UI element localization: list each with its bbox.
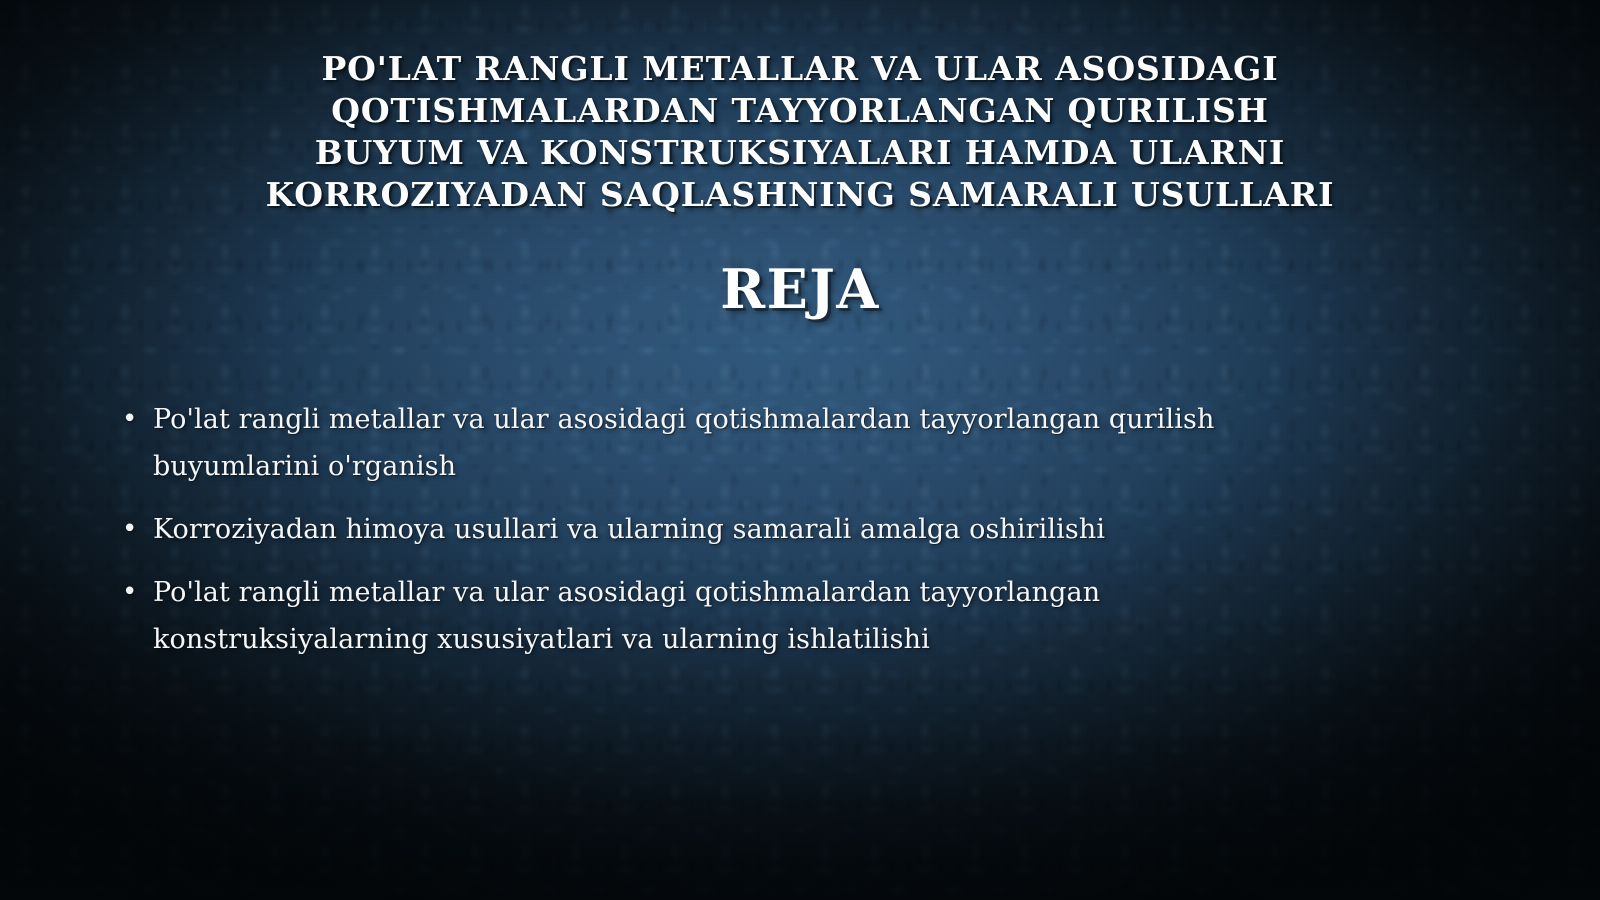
slide-title-line-2: QOTISHMALARDAN TAYYORLANGAN QURILISH [170, 90, 1430, 132]
slide-title-line-1: PO'LAT RANGLI METALLAR VA ULAR ASOSIDAGI [170, 48, 1430, 90]
slide-title-line-3: BUYUM VA KONSTRUKSIYALARI HAMDA ULARNI [170, 132, 1430, 174]
slide-content: PO'LAT RANGLI METALLAR VA ULAR ASOSIDAGI… [0, 0, 1600, 900]
slide-heading-reja: REJA [0, 258, 1600, 320]
list-item: • Po'lat rangli metallar va ular asosida… [122, 569, 1422, 663]
slide-bullet-list: • Po'lat rangli metallar va ular asosida… [122, 396, 1422, 679]
list-item: • Po'lat rangli metallar va ular asosida… [122, 396, 1422, 490]
slide-title-line-4: KORROZIYADAN SAQLASHNING SAMARALI USULLA… [170, 174, 1430, 216]
bullet-text-1: Po'lat rangli metallar va ular asosidagi… [153, 396, 1333, 490]
bullet-dot-icon: • [122, 569, 153, 616]
bullet-dot-icon: • [122, 506, 153, 553]
presentation-slide: PO'LAT RANGLI METALLAR VA ULAR ASOSIDAGI… [0, 0, 1600, 900]
list-item: • Korroziyadan himoya usullari va ularni… [122, 506, 1422, 553]
slide-title: PO'LAT RANGLI METALLAR VA ULAR ASOSIDAGI… [170, 48, 1430, 216]
bullet-text-3: Po'lat rangli metallar va ular asosidagi… [153, 569, 1213, 663]
bullet-dot-icon: • [122, 396, 153, 443]
bullet-text-2: Korroziyadan himoya usullari va ularning… [153, 506, 1422, 553]
